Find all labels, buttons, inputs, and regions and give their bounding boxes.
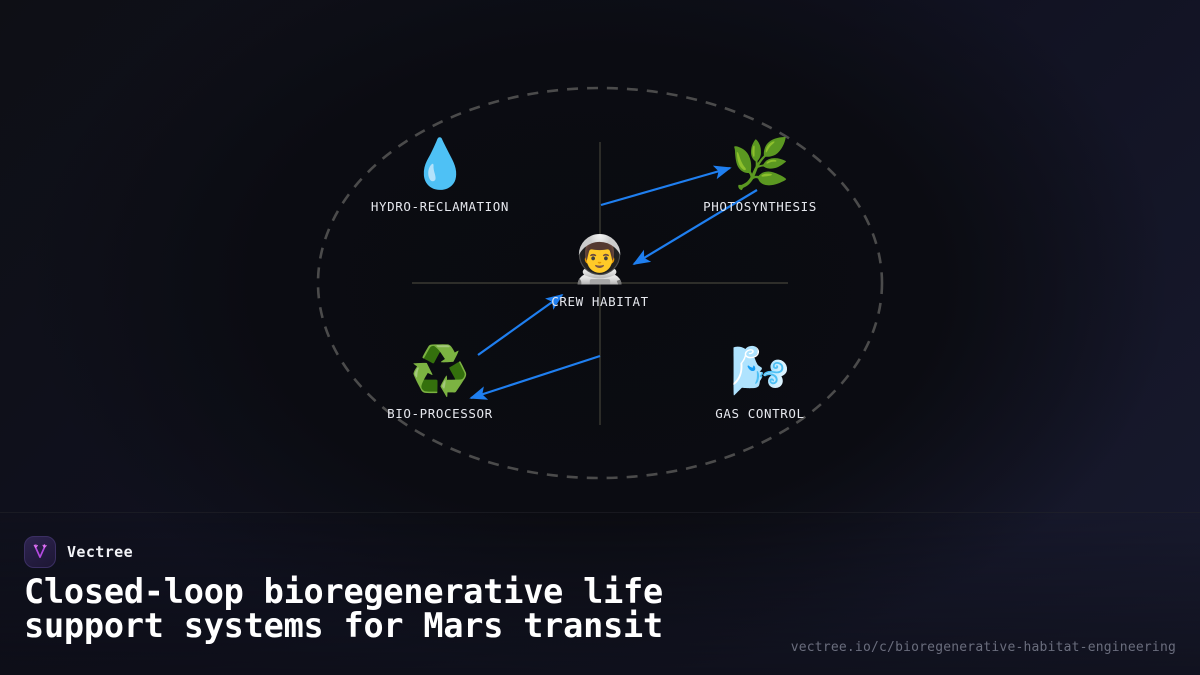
node-label-hydro-reclamation: HYDRO-RECLAMATION	[340, 199, 540, 214]
brand-name: Vectree	[67, 543, 133, 561]
page-title: Closed-loop bioregenerative life support…	[24, 575, 764, 642]
share-url[interactable]: vectree.io/c/bioregenerative-habitat-eng…	[791, 640, 1176, 655]
recycling-symbol-icon: ♻️	[340, 342, 540, 400]
node-label-photosynthesis: PHOTOSYNTHESIS	[660, 199, 860, 214]
herb-leaves-icon: 🌿	[660, 135, 860, 193]
node-gas-control[interactable]: 🌬️GAS CONTROL	[660, 342, 860, 421]
share-card: 💧HYDRO-RECLAMATION🌿PHOTOSYNTHESIS👨‍🚀CREW…	[0, 0, 1200, 675]
node-label-bio-processor: BIO-PROCESSOR	[340, 406, 540, 421]
water-droplet-icon: 💧	[340, 135, 540, 193]
vectree-sprout-logo-icon	[24, 536, 56, 568]
diagram-canvas: 💧HYDRO-RECLAMATION🌿PHOTOSYNTHESIS👨‍🚀CREW…	[0, 0, 1200, 512]
node-photosynthesis[interactable]: 🌿PHOTOSYNTHESIS	[660, 135, 860, 214]
node-bio-processor[interactable]: ♻️BIO-PROCESSOR	[340, 342, 540, 421]
node-label-gas-control: GAS CONTROL	[660, 406, 860, 421]
brand: Vectree	[24, 536, 133, 568]
node-hydro-reclamation[interactable]: 💧HYDRO-RECLAMATION	[340, 135, 540, 214]
node-crew-habitat[interactable]: 👨‍🚀CREW HABITAT	[500, 230, 700, 309]
wind-gas-icon: 🌬️	[660, 342, 860, 400]
astronaut-icon: 👨‍🚀	[500, 230, 700, 288]
node-label-crew-habitat: CREW HABITAT	[500, 294, 700, 309]
card-footer: Vectree Closed-loop bioregenerative life…	[0, 512, 1200, 675]
